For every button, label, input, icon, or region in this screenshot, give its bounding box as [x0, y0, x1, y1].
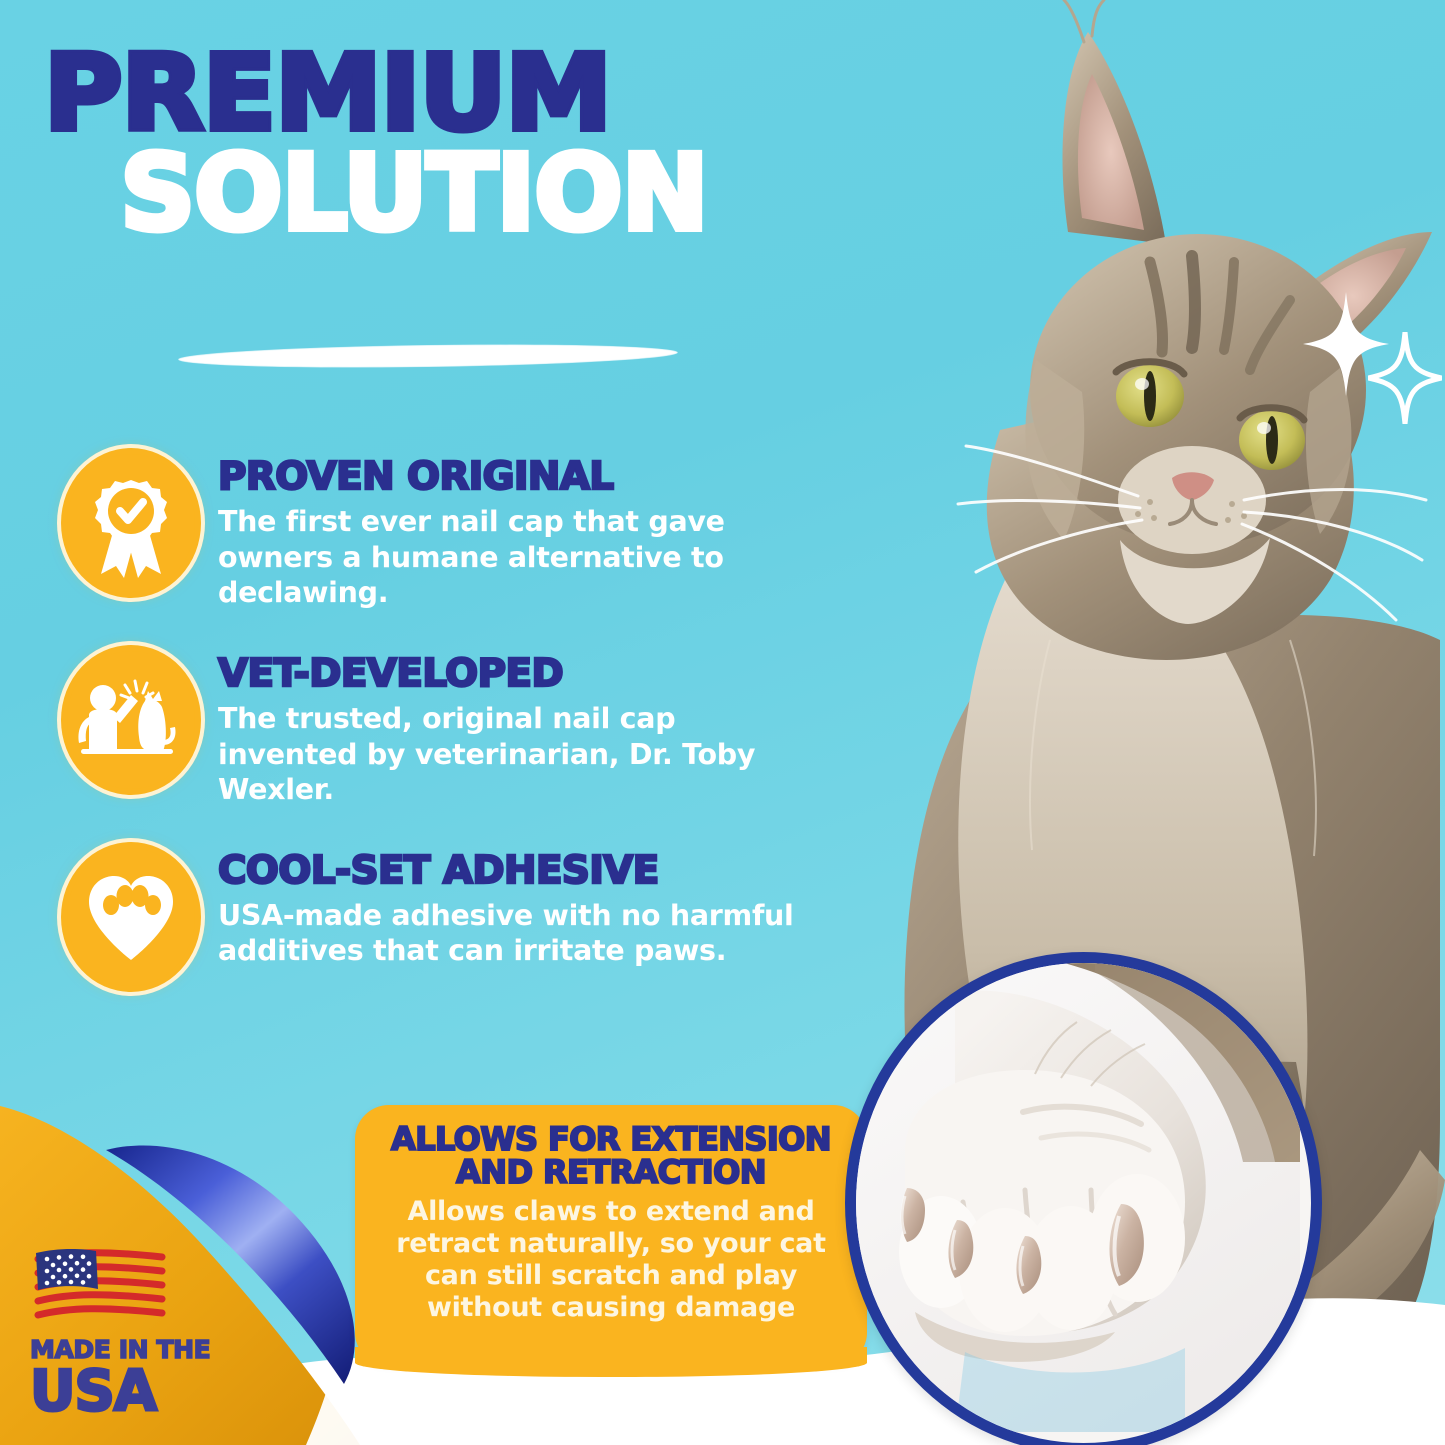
- feature-description: USA-made adhesive with no harmful additi…: [218, 898, 798, 969]
- feature-item-cool-set-adhesive: COOL-SET ADHESIVE USA-made adhesive with…: [58, 842, 848, 992]
- headline-line-2: SOLUTION: [44, 148, 784, 238]
- made-in-usa-badge: MADE IN THE USA: [30, 1245, 230, 1420]
- paw-closeup-inset: [845, 952, 1322, 1445]
- award-ribbon-glyph: [67, 454, 195, 592]
- callout-extension-retraction: ALLOWS FOR EXTENSION AND RETRACTION Allo…: [355, 1105, 867, 1363]
- feature-text-block: PROVEN ORIGINAL The first ever nail cap …: [218, 448, 848, 611]
- feature-text-block: COOL-SET ADHESIVE USA-made adhesive with…: [218, 842, 848, 969]
- feature-text-block: VET-DEVELOPED The trusted, original nail…: [218, 645, 848, 808]
- feature-title: PROVEN ORIGINAL: [218, 454, 861, 498]
- callout-description: Allows claws to extend and retract natur…: [377, 1196, 845, 1323]
- feature-item-vet-developed: VET-DEVELOPED The trusted, original nail…: [58, 645, 848, 808]
- usa-badge-line-2: USA: [30, 1364, 230, 1420]
- award-ribbon-check-icon: [58, 448, 204, 598]
- sparkle-outline-icon: [1368, 332, 1442, 424]
- product-feature-graphic: PREMIUM SOLUTION: [0, 0, 1445, 1445]
- feature-description: The first ever nail cap that gave owners…: [218, 504, 798, 611]
- feature-item-proven-original: PROVEN ORIGINAL The first ever nail cap …: [58, 448, 848, 611]
- callout-title: ALLOWS FOR EXTENSION AND RETRACTION: [369, 1123, 853, 1188]
- feature-list: PROVEN ORIGINAL The first ever nail cap …: [58, 448, 848, 1026]
- vet-and-cat-glyph: [67, 651, 195, 789]
- feature-title: VET-DEVELOPED: [218, 651, 861, 695]
- paw-with-nail-caps-illustration: [845, 952, 1300, 1432]
- usa-flag-icon: [30, 1245, 170, 1327]
- vet-high-five-cat-icon: [58, 645, 204, 795]
- headline-block: PREMIUM SOLUTION: [44, 48, 824, 239]
- feature-title: COOL-SET ADHESIVE: [218, 848, 861, 892]
- heart-paw-glyph: [67, 848, 195, 986]
- feature-description: The trusted, original nail cap invented …: [218, 701, 798, 808]
- headline-line-1: PREMIUM: [44, 48, 847, 138]
- heart-paw-icon: [58, 842, 204, 992]
